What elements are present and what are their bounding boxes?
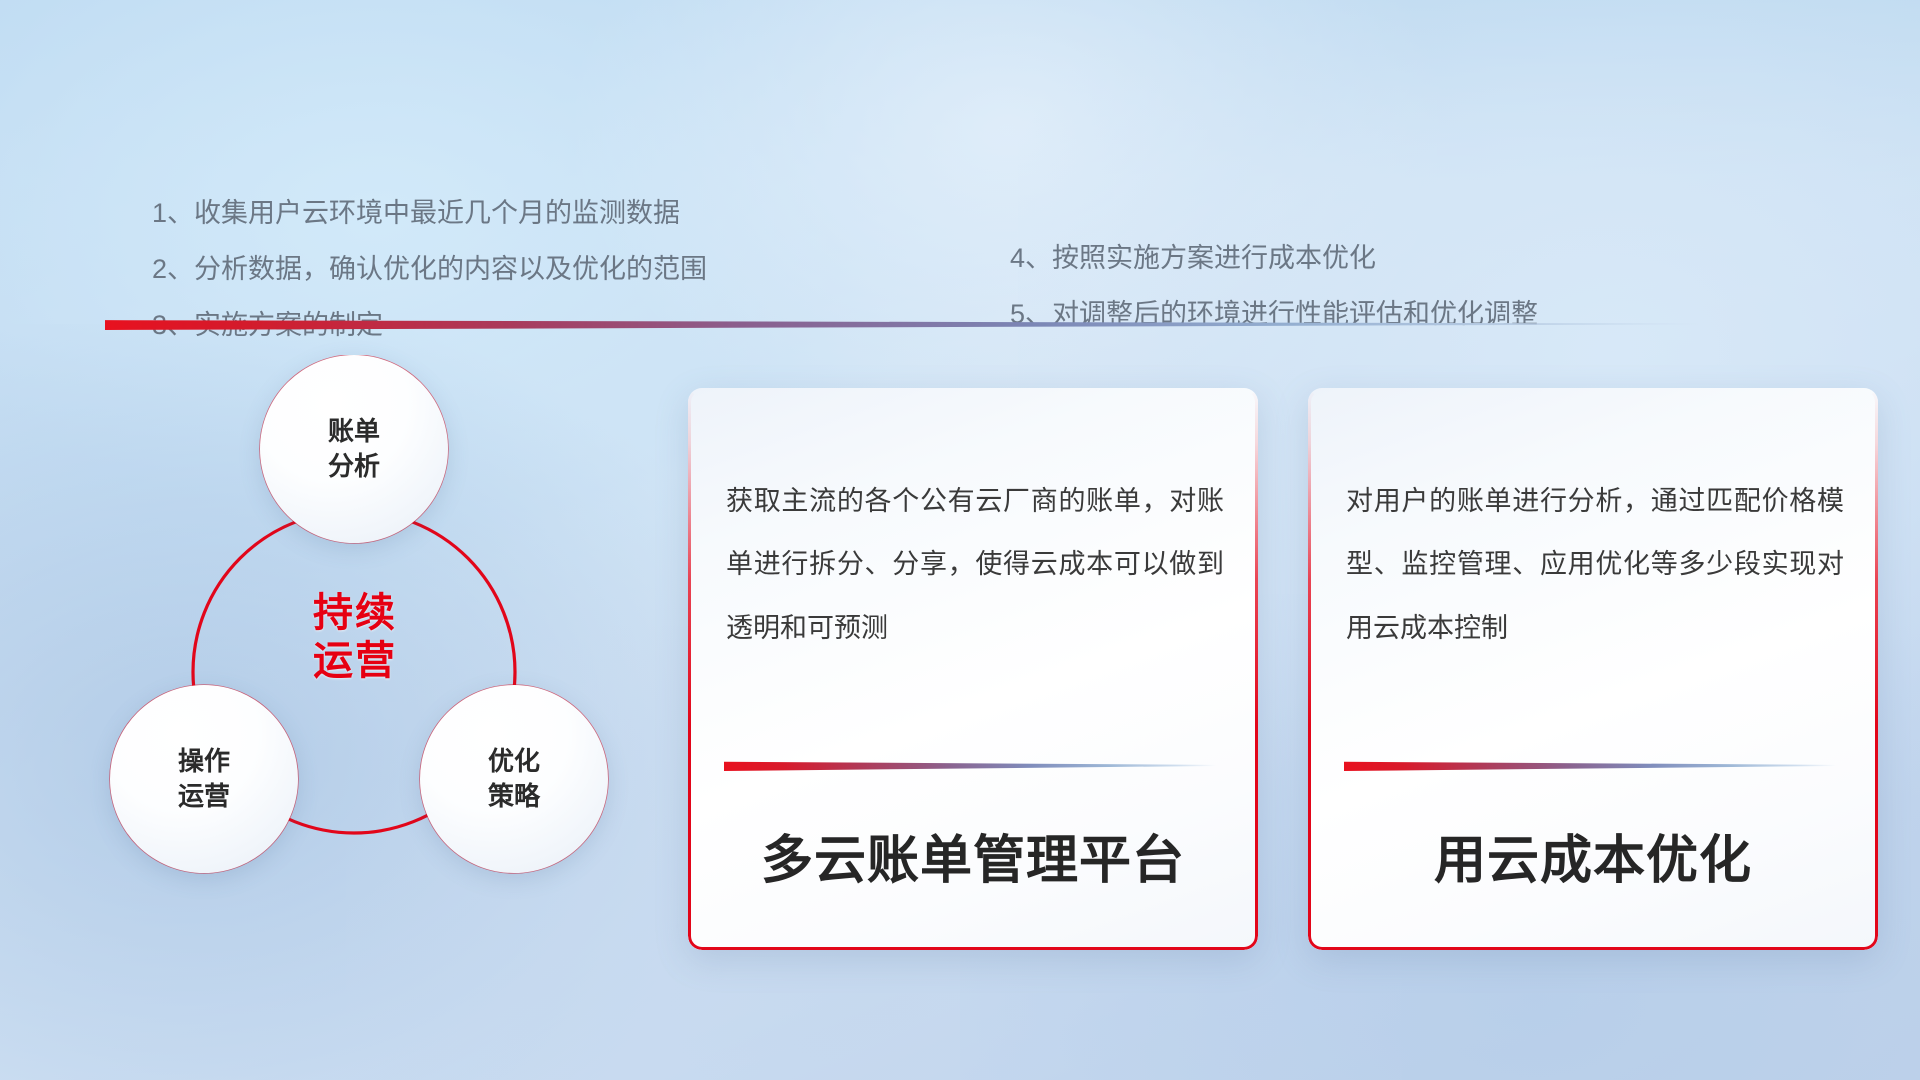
card-body-text: 对用户的账单进行分析，通过匹配价格模型、监控管理、应用优化等多少段实现对用云成本…: [1346, 470, 1844, 660]
diagram-center-label: 持续 运营: [270, 577, 440, 697]
divider-wedge: [105, 318, 1700, 330]
card-divider: [1344, 760, 1836, 771]
feature-card-multicloud-billing[interactable]: 获取主流的各个公有云厂商的账单，对账单进行拆分、分享，使得云成本可以做到透明和可…: [688, 388, 1258, 950]
bubble-label-line2: 策略: [488, 779, 540, 814]
bubble-label-line1: 操作: [178, 744, 230, 779]
diagram-bubble-optimization-strategy[interactable]: 优化 策略: [420, 685, 608, 873]
steps-right-column: 4、按照实施方案进行成本优化 5、对调整后的环境进行性能评估和优化调整: [1010, 245, 1538, 357]
section-divider: [105, 318, 1700, 330]
steps-left-column: 1、收集用户云环境中最近几个月的监测数据 2、分析数据，确认优化的内容以及优化的…: [152, 200, 707, 368]
continuous-operation-diagram: 账单 分析 操作 运营 优化 策略 持续 运营: [100, 355, 660, 955]
bubble-label-line2: 运营: [178, 779, 230, 814]
center-label-line1: 持续: [313, 589, 397, 637]
bubble-label-line1: 账单: [328, 414, 380, 449]
diagram-bubble-bill-analysis[interactable]: 账单 分析: [260, 355, 448, 543]
card-divider-wedge: [1344, 760, 1836, 771]
card-title: 多云账单管理平台: [688, 818, 1258, 893]
bubble-label-line1: 优化: [488, 744, 540, 779]
card-divider-wedge: [724, 760, 1216, 771]
step-item: 4、按照实施方案进行成本优化: [1010, 245, 1538, 272]
step-item: 1、收集用户云环境中最近几个月的监测数据: [152, 200, 707, 227]
bubble-label-line2: 分析: [328, 449, 380, 484]
card-title: 用云成本优化: [1308, 818, 1878, 893]
card-body-text: 获取主流的各个公有云厂商的账单，对账单进行拆分、分享，使得云成本可以做到透明和可…: [726, 470, 1224, 660]
feature-card-cloud-cost-optimization[interactable]: 对用户的账单进行分析，通过匹配价格模型、监控管理、应用优化等多少段实现对用云成本…: [1308, 388, 1878, 950]
card-divider: [724, 760, 1216, 771]
diagram-bubble-operation[interactable]: 操作 运营: [110, 685, 298, 873]
step-item: 2、分析数据，确认优化的内容以及优化的范围: [152, 256, 707, 283]
slide-content: 1、收集用户云环境中最近几个月的监测数据 2、分析数据，确认优化的内容以及优化的…: [0, 0, 1920, 1080]
center-label-line2: 运营: [313, 637, 397, 685]
